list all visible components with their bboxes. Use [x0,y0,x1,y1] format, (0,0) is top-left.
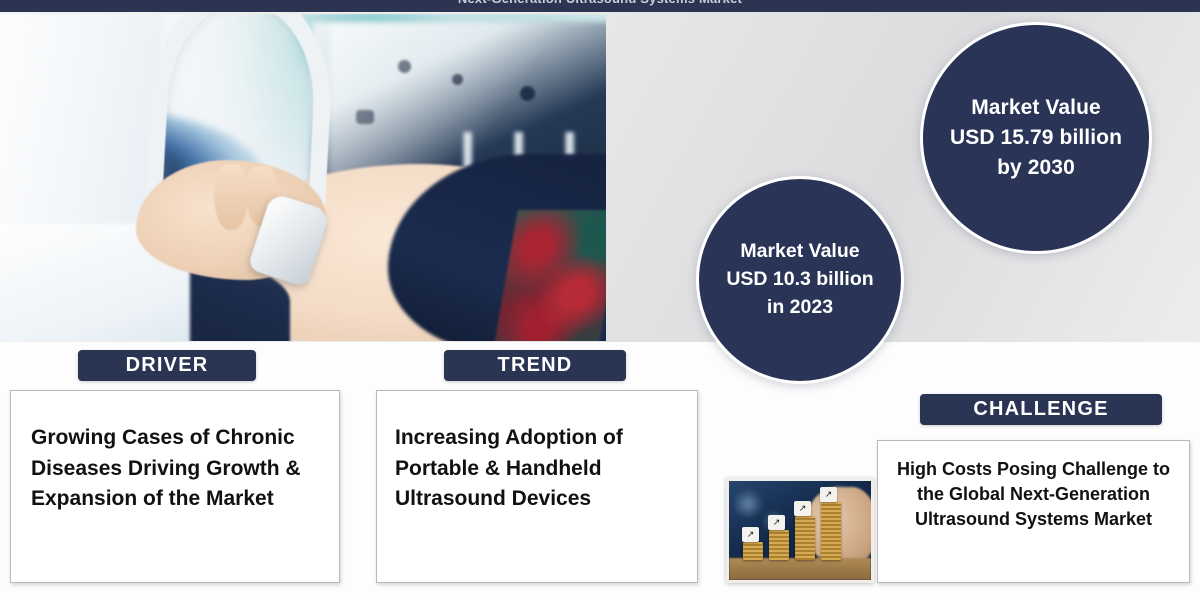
card-trend: Increasing Adoption of Portable & Handhe… [376,390,698,583]
metric-circle-2023: Market Value USD 10.3 billion in 2023 [696,176,904,384]
metric-2030-line1: Market Value [936,93,1136,123]
page-title: Next-Generation Ultrasound Systems Marke… [0,0,1200,6]
infographic-canvas: Next-Generation Ultrasound Systems Marke… [0,0,1200,600]
coin-stack [795,516,815,560]
photo-finger [214,164,248,230]
badge-driver: DRIVER [78,350,256,381]
coins-scene: ↗ ↗ ↗ ↗ [729,481,871,580]
growing-coin-stacks-photo: ↗ ↗ ↗ ↗ [726,478,874,583]
arrow-up-icon: ↗ [768,515,785,530]
coin-stack [821,502,841,560]
arrow-up-icon: ↗ [794,501,811,516]
metric-2023-line2: USD 10.3 billion [712,266,887,294]
metric-circle-2030: Market Value USD 15.79 billion by 2030 [920,22,1152,254]
metric-2030-line2: USD 15.79 billion [936,123,1136,153]
badge-trend: TREND [444,350,626,381]
coins-desk [729,558,871,580]
card-challenge: High Costs Posing Challenge to the Globa… [877,440,1190,583]
metric-2023-line3: in 2023 [712,294,887,322]
arrow-up-icon: ↗ [820,487,837,502]
badge-challenge: CHALLENGE [920,394,1162,425]
metric-2030-line3: by 2030 [936,153,1136,183]
ultrasound-exam-photo [0,14,606,341]
title-bar: Next-Generation Ultrasound Systems Marke… [0,0,1200,12]
metric-2023-line1: Market Value [712,238,887,266]
arrow-up-icon: ↗ [742,527,759,542]
coin-stack [743,542,763,560]
coins-bokeh [733,489,763,519]
coin-stack [769,530,789,560]
card-driver: Growing Cases of Chronic Diseases Drivin… [10,390,340,583]
